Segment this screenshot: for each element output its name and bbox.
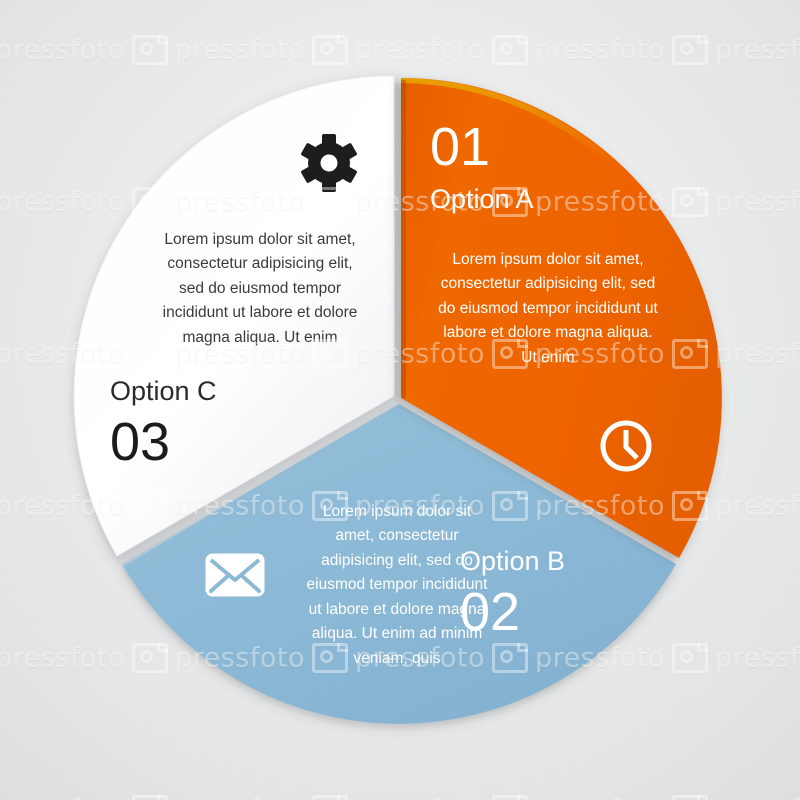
- segment-c-number: 03: [110, 415, 330, 469]
- segment-c-heading: Option C 03: [110, 378, 330, 469]
- segment-a-heading: 01 Option A: [430, 120, 660, 213]
- gear-icon: [298, 134, 360, 192]
- segment-a-number: 01: [430, 120, 660, 174]
- clock-icon: [598, 418, 654, 474]
- segment-c-body-text: Lorem ipsum dolor sit amet, consectetur …: [160, 228, 360, 350]
- envelope-icon: [204, 552, 266, 598]
- segment-a-label: Option A: [430, 186, 660, 213]
- segment-c-label: Option C: [110, 378, 330, 405]
- segment-a-body-text: Lorem ipsum dolor sit amet, consectetur …: [438, 248, 658, 370]
- segment-b-body-text: Lorem ipsum dolor sit amet, consectetur …: [302, 500, 492, 671]
